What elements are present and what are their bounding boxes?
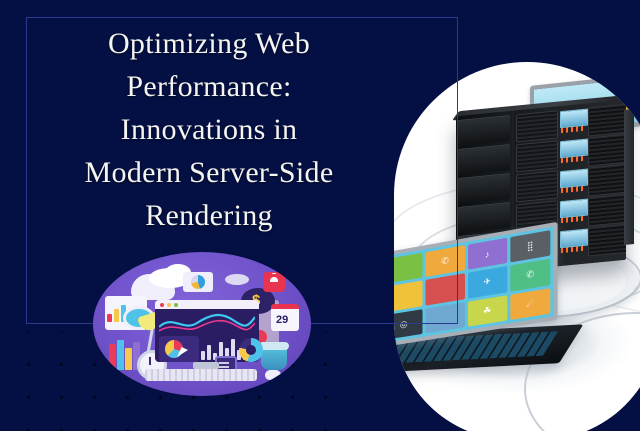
user-badge-icon — [263, 272, 285, 292]
rack-grill-right — [588, 161, 626, 196]
app-tile: ✈ — [467, 266, 507, 298]
app-tile — [426, 274, 465, 306]
page-title: Optimizing Web Performance: Innovations … — [18, 22, 400, 237]
rack-led-indicators — [561, 126, 585, 133]
rack-bay — [458, 115, 510, 146]
rack-grill — [516, 170, 558, 202]
bar — [207, 345, 211, 360]
rack-grill-right — [588, 191, 626, 226]
app-tile: ☘ — [467, 295, 507, 327]
laptop: ✆ ♪ ⣿ ✈ ✆ ◎ ☘ ☄ — [394, 238, 566, 378]
rack-led-indicators — [561, 186, 585, 193]
app-tile: ✆ — [426, 245, 465, 277]
laptop-tile-grid: ✆ ♪ ⣿ ✈ ✆ ◎ ☘ ☄ — [394, 230, 550, 340]
rack-grill — [516, 140, 558, 172]
rack-bay — [458, 202, 510, 233]
book — [125, 348, 132, 370]
rack-led-module — [560, 138, 586, 169]
title-line-3: Innovations in — [18, 108, 400, 151]
monitor-stand — [193, 362, 219, 369]
rack-grill-right — [588, 131, 626, 166]
app-tile: ⣿ — [510, 230, 550, 263]
book — [109, 344, 116, 370]
rack-bay — [458, 144, 510, 175]
calendar-day: 29 — [276, 314, 288, 326]
bar — [114, 309, 119, 322]
title-line-4: Modern Server-Side — [18, 151, 400, 194]
app-tile — [394, 253, 423, 285]
close-dot — [160, 303, 164, 307]
rack-grill-right — [588, 221, 626, 256]
coffee-cup-icon — [261, 346, 287, 370]
keyboard-icon — [145, 369, 257, 381]
app-tile — [394, 281, 423, 312]
server-rack-photo: ✆ ♪ ⣿ ✈ ✆ ◎ ☘ ☄ — [394, 62, 640, 431]
app-tile: ☄ — [510, 288, 550, 320]
calendar-icon: 29 — [271, 304, 299, 331]
title-line-2: Performance: — [18, 65, 400, 108]
window-controls — [160, 303, 178, 307]
app-tile: ◎ — [394, 309, 423, 340]
bar — [107, 314, 112, 322]
rack-side-edge — [624, 109, 634, 245]
app-tile: ✆ — [510, 259, 550, 291]
maximize-dot — [174, 303, 178, 307]
poster-canvas: ✆ ♪ ⣿ ✈ ✆ ◎ ☘ ☄ Optimiz — [0, 0, 640, 431]
rack-led-indicators — [561, 156, 585, 163]
mouse-icon — [265, 370, 281, 380]
book — [117, 340, 124, 370]
donut-chart-icon — [239, 338, 263, 362]
clock-hand — [149, 357, 151, 365]
rack-grill-right — [588, 101, 626, 136]
books-icon — [109, 340, 139, 370]
rack-grill — [516, 110, 558, 142]
app-tile: ♪ — [467, 238, 507, 270]
title-line-5: Rendering — [18, 194, 400, 237]
rack-led-module — [560, 108, 586, 139]
minimize-dot — [167, 303, 171, 307]
user-glyph — [270, 277, 278, 282]
rack-led-module — [560, 198, 586, 229]
bar — [201, 351, 205, 360]
rack-led-module — [560, 168, 586, 199]
title-line-1: Optimizing Web — [18, 22, 400, 65]
rack-bay — [458, 173, 510, 204]
donut-hole — [246, 345, 256, 355]
pie-chart-icon — [191, 275, 205, 289]
photo-inner: ✆ ♪ ⣿ ✈ ✆ ◎ ☘ ☄ — [394, 62, 640, 431]
rack-led-indicators — [561, 216, 585, 223]
cup-lid — [259, 342, 289, 350]
app-tile — [426, 302, 465, 333]
line-chart-graphic — [159, 312, 255, 334]
digital-analytics-illustration: $ 29 — [93, 252, 311, 396]
cloud-small-icon — [225, 274, 249, 285]
